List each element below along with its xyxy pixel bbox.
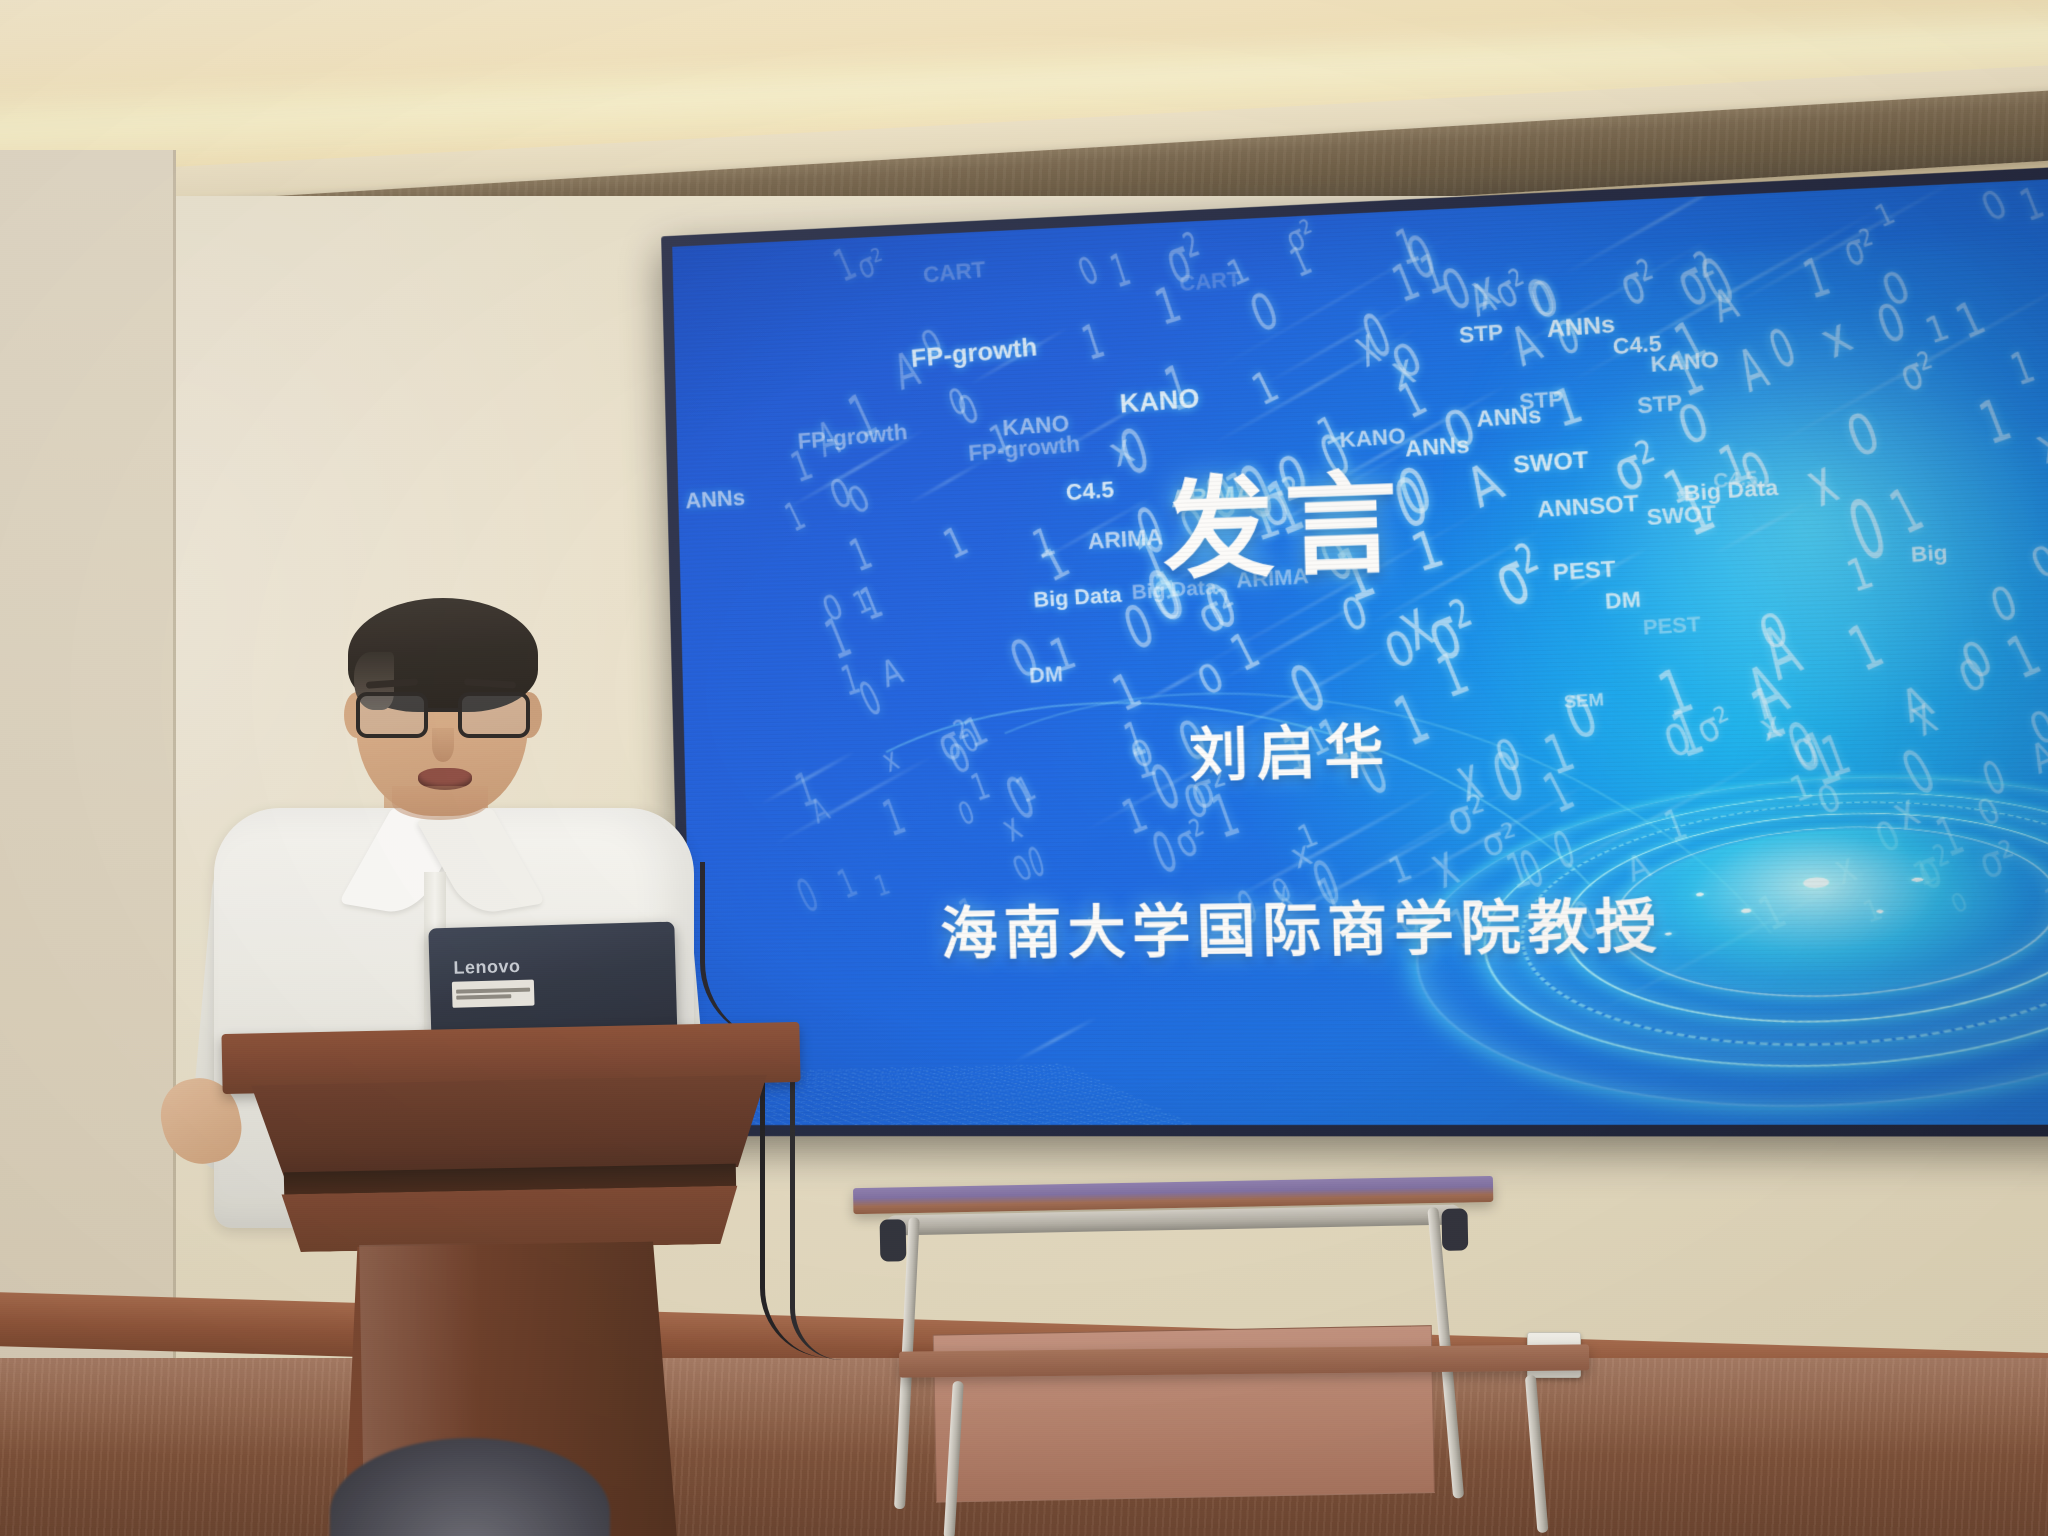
- chin: [392, 786, 488, 820]
- slide-text-block: 发言 刘启华 海南大学国际商学院教授: [672, 176, 2048, 1125]
- slide-title: 发言: [1161, 432, 1410, 599]
- podium-mid-section: [281, 1186, 738, 1253]
- podium-front-face: [251, 1075, 769, 1178]
- table-leg-right: [1525, 1375, 1549, 1533]
- laptop-asset-sticker: [452, 980, 535, 1008]
- lens-left: [356, 692, 428, 738]
- conference-table-rear: [899, 1344, 1591, 1536]
- lens-right: [458, 692, 530, 738]
- table-foot-right: [1442, 1208, 1469, 1250]
- slide-presenter-name: 刘启华: [1188, 704, 1393, 792]
- lenovo-logo: Lenovo: [453, 956, 521, 979]
- wall-left-panel: [0, 150, 176, 1370]
- slide-surface: 010x0Ax10σ²0A1000010σ²10011001x0A1x11101…: [672, 176, 2048, 1125]
- nose: [432, 728, 454, 762]
- glasses-bridge: [426, 708, 460, 712]
- table-foot-left: [879, 1219, 906, 1261]
- table-leg-left: [944, 1381, 964, 1536]
- conference-photo-scene: 010x0Ax10σ²0A1000010σ²10011001x0A1x11101…: [0, 0, 2048, 1536]
- slide-affiliation: 海南大学国际商学院教授: [939, 878, 1664, 970]
- led-display-screen[interactable]: 010x0Ax10σ²0A1000010σ²10011001x0A1x11101…: [661, 164, 2048, 1137]
